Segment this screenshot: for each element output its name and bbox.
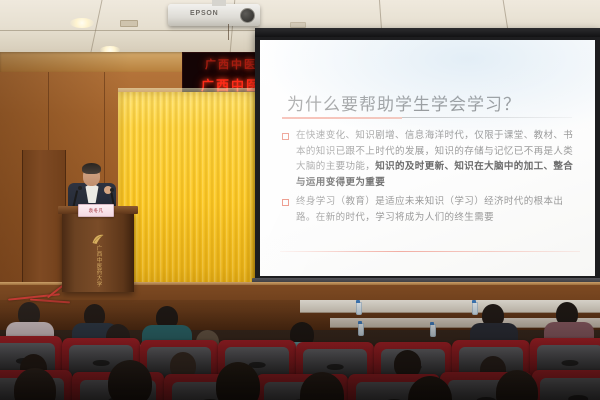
projector-ceiling-mount: [212, 0, 226, 6]
projector-cable: [228, 24, 229, 40]
slide-bullet-text-2: 终身学习（教育）是适应未来知识（学习）经济时代的根本出路。在新的时代，学习将成为…: [296, 194, 582, 225]
water-bottle: [356, 302, 362, 315]
lectern-podium: 广西中医药大学: [62, 212, 134, 292]
seat-backrest-hole: [327, 364, 344, 371]
slide-bullet-item: 在快速变化、知识剧增、信息海洋时代，仅限于课堂、教材、书本的知识已跟不上时代的发…: [282, 128, 582, 190]
slide-title-accent: [282, 117, 402, 119]
water-bottle-cap: [430, 322, 434, 325]
projector-body: EPSON: [168, 4, 260, 26]
presentation-slide: 为什么要帮助学生学会学习？ 在快速变化、知识剧增、信息海洋时代，仅限于课堂、教材…: [260, 40, 595, 276]
speaker-shirt: [86, 183, 99, 203]
speaker-nameplate: 袁冬凡: [78, 204, 114, 217]
slide-bullet-text-1: 在快速变化、知识剧增、信息海洋时代，仅限于课堂、教材、书本的知识已跟不上时代的发…: [296, 128, 582, 190]
stage-curtain-center: [118, 92, 264, 292]
projector-brand-label: EPSON: [190, 10, 219, 17]
ceiling-light: [70, 18, 94, 28]
university-emblem-icon: [92, 234, 105, 245]
speaker-nameplate-text: 袁冬凡: [89, 208, 104, 214]
seat-backrest-hole: [93, 360, 110, 367]
microphone-head: [110, 188, 114, 192]
water-bottle-cap: [356, 300, 360, 303]
speaker-hair: [82, 163, 101, 174]
podium-institution-text: 广西中医药大学: [95, 245, 102, 287]
seat-backrest-hole: [568, 395, 588, 400]
lecture-hall-photo: 广西中医 广西中医 广西中医 广西中医 为什么要帮助学生学会学习？ 在快速变化、…: [0, 0, 600, 400]
slide-bullet-item: 终身学习（教育）是适应未来知识（学习）经济时代的根本出路。在新的时代，学习将成为…: [282, 194, 582, 225]
water-bottle: [472, 302, 478, 315]
screen-top-bar: [255, 28, 600, 37]
square-bullet-icon: [282, 133, 289, 140]
seat-backrest-hole: [561, 360, 578, 367]
water-bottle-cap: [358, 321, 362, 324]
projection-screen: 为什么要帮助学生学会学习？ 在快速变化、知识剧增、信息海洋时代，仅限于课堂、教材…: [255, 28, 600, 280]
audience-area: [0, 300, 600, 400]
slide-bullet-list: 在快速变化、知识剧增、信息海洋时代，仅限于课堂、教材、书本的知识已跟不上时代的发…: [282, 128, 582, 228]
auditorium-seat: [532, 370, 600, 400]
slide-title: 为什么要帮助学生学会学习？: [287, 90, 521, 115]
led-banner-text-upper: 广西中医: [205, 56, 257, 72]
seat-backrest: [540, 378, 600, 400]
audience-desk-row: [300, 300, 600, 313]
water-bottle: [430, 324, 436, 337]
microphone-head: [78, 186, 82, 190]
audience-head-foreground: [108, 360, 152, 400]
water-bottle-cap: [472, 300, 476, 303]
ceiling-vent: [120, 20, 138, 27]
water-bottle: [358, 323, 364, 336]
slide-footer-rule: [280, 251, 580, 252]
projector-lens: [240, 8, 255, 23]
square-bullet-icon: [282, 199, 289, 206]
